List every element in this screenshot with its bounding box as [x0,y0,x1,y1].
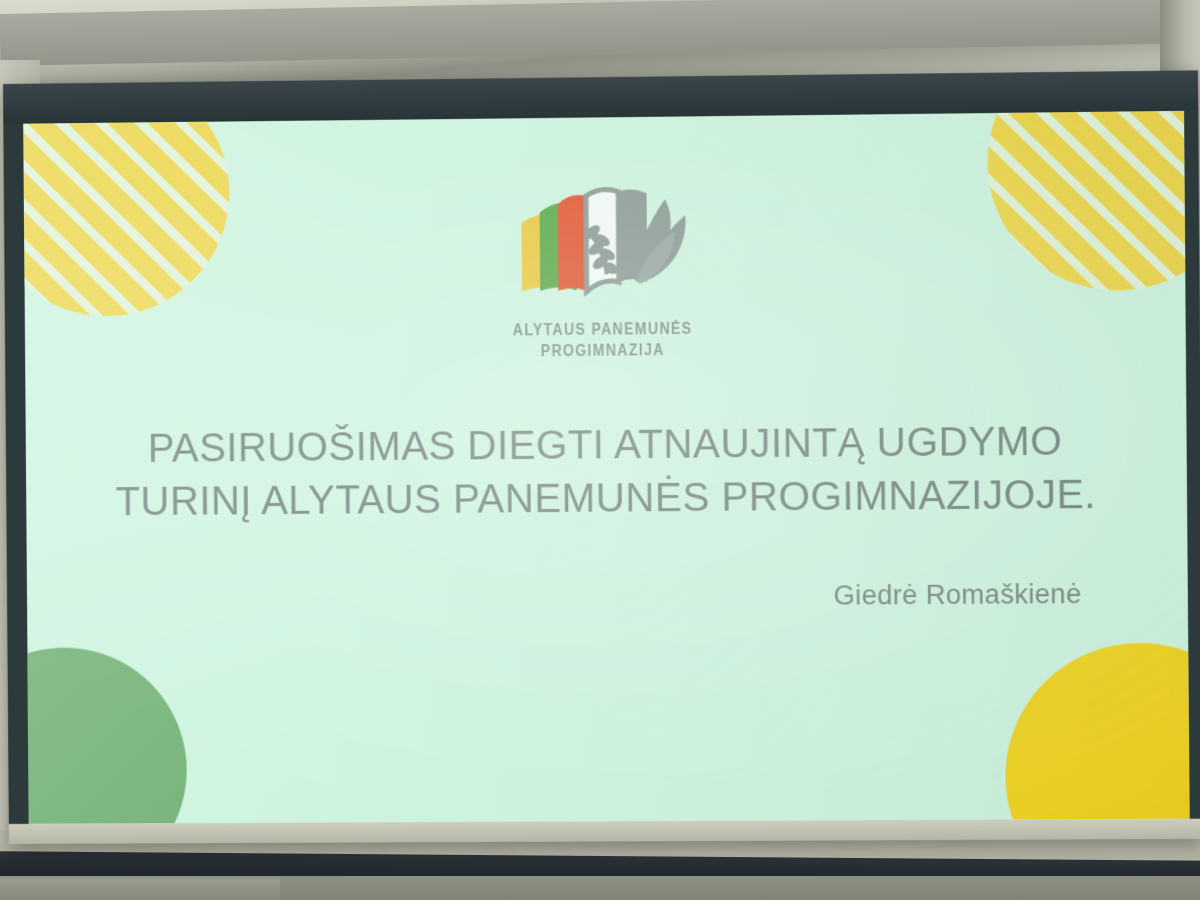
logo-wordmark-line2: PROGIMNAZIJA [512,339,692,362]
door-frame [0,878,280,900]
open-book-with-quill-feathers-logo [505,177,698,310]
school-logo: ALYTAUS PANEMUNĖS PROGIMNAZIJA [24,172,1186,367]
slide-title: PASIRUOŠIMAS DIEGTI ATNAUJINTĄ UGDYMO TU… [26,414,1188,529]
projection-screen-bezel: ALYTAUS PANEMUNĖS PROGIMNAZIJA PASIRUOŠI… [3,70,1200,844]
slide-author: Giedrė Romaškienė [833,579,1081,612]
solid-circle-bottom-right [1005,642,1190,824]
presentation-slide: ALYTAUS PANEMUNĖS PROGIMNAZIJA PASIRUOŠI… [23,111,1189,824]
photo-scene: ALYTAUS PANEMUNĖS PROGIMNAZIJA PASIRUOŠI… [0,0,1200,900]
logo-wordmark-line1: ALYTAUS PANEMUNĖS [512,319,692,340]
logo-wordmark: ALYTAUS PANEMUNĖS PROGIMNAZIJA [512,318,692,363]
solid-circle-bottom-left [23,647,187,824]
